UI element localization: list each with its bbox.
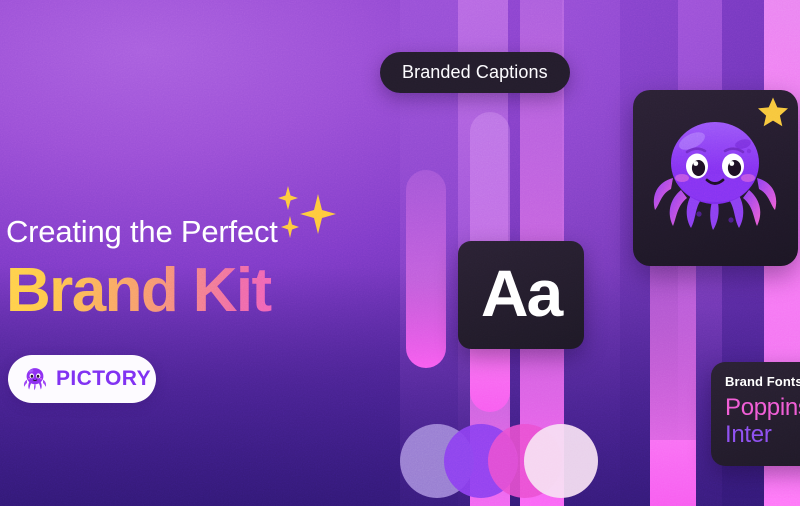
pictory-logo[interactable]: PICTORY	[8, 355, 156, 403]
brand-font-primary: Poppins	[725, 395, 800, 422]
sparkle-icon-group	[278, 186, 342, 256]
page-title-line1: Creating the Perfect	[6, 214, 406, 250]
bar-short-right	[650, 440, 696, 506]
thumbnail-canvas: Creating the Perfect Brand Kit	[0, 0, 800, 506]
sparkle-icon	[300, 194, 336, 234]
brand-fonts-title: Brand Fonts	[725, 374, 800, 389]
octopus-icon	[21, 365, 49, 393]
sparkle-icon	[281, 216, 299, 238]
typography-sample-label: Aa	[481, 260, 561, 326]
octopus-mascot-icon	[647, 116, 783, 244]
brand-font-secondary: Inter	[725, 422, 800, 449]
swatch-blush	[524, 424, 598, 498]
sparkle-icon	[278, 186, 298, 210]
branded-captions-label: Branded Captions	[402, 62, 548, 83]
page-title-line2: Brand Kit	[6, 255, 426, 326]
mascot-card[interactable]	[633, 90, 798, 266]
pictory-wordmark: PICTORY	[56, 367, 151, 391]
branded-captions-pill[interactable]: Branded Captions	[380, 52, 570, 93]
brand-fonts-card[interactable]: Brand Fonts Poppins Inter	[711, 362, 800, 466]
typography-card[interactable]: Aa	[458, 241, 584, 349]
